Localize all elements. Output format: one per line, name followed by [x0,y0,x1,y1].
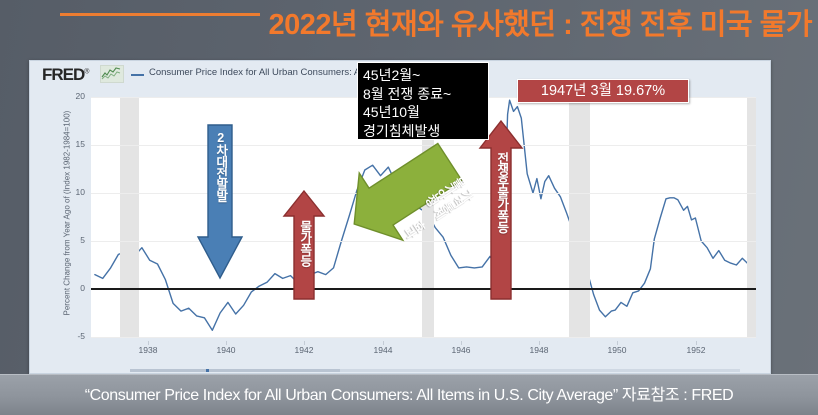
annotation-red-up-arrow-2[interactable]: 전쟁후물가폭등 [479,120,523,300]
black-callout-line-2: 8월 전쟁 종료~ [363,85,488,104]
zero-baseline [91,288,756,290]
sparkline-icon [100,65,124,83]
fred-logo-registered: ® [84,68,88,75]
blue-arrow-label: 2차대전발발 [213,131,227,202]
red-arrow-1-label: 물가폭등 [297,220,311,266]
black-callout-line-1: 45년2월~ [363,66,488,85]
x-tick-1942: 1942 [274,345,334,355]
x-tick-1946: 1946 [431,345,491,355]
gridline-minus5 [91,337,756,338]
scrollbar-handle-dot[interactable] [206,369,209,372]
caption-band: “Consumer Price Index for All Urban Cons… [0,374,818,415]
legend-label: Consumer Price Index for All Urban Consu… [149,67,360,78]
legend-color-swatch [131,74,144,76]
recession-band-3 [569,97,590,337]
fred-logo: FRED® [42,65,88,85]
recession-band-1 [120,97,139,337]
y-tick-15: 15 [30,139,85,149]
x-axis: 1938 1940 1942 1944 1946 1948 1950 1952 [91,341,756,355]
y-tick-20: 20 [30,91,85,101]
scrollbar-thumb[interactable] [130,369,340,372]
x-tick-1952: 1952 [666,345,726,355]
annotation-green-diagonal-arrow[interactable]: 가격통제 효과 물가안정 [336,134,468,252]
chart-scrollbar[interactable] [30,367,770,372]
black-callout-line-3: 45년10월 [363,103,488,122]
y-tick-minus5: -5 [30,331,85,341]
fred-logo-text: FRED [42,65,84,84]
x-tick-1950: 1950 [587,345,647,355]
annotation-blue-down-arrow[interactable]: 2차대전발발 [197,125,243,280]
red-arrow-2-label: 전쟁후물가폭등 [494,152,508,233]
black-callout-line-4: 경기침체발생 [363,122,488,141]
x-tick-1944: 1944 [353,345,413,355]
y-tick-0: 0 [30,283,85,293]
slide-canvas: 2022년 현재와 유사했던 : 전쟁 전후 미국 물가 FRED® Consu… [0,0,818,415]
page-title: 2022년 현재와 유사했던 : 전쟁 전후 미국 물가 [140,4,812,46]
x-tick-1940: 1940 [196,345,256,355]
x-tick-1938: 1938 [118,345,178,355]
annotation-red-up-arrow-1[interactable]: 물가폭등 [283,190,325,300]
x-tick-1948: 1948 [509,345,569,355]
source-caption: “Consumer Price Index for All Urban Cons… [0,381,818,405]
y-tick-10: 10 [30,187,85,197]
y-tick-5: 5 [30,235,85,245]
peak-value-badge[interactable]: 1947년 3월 19.67% [517,79,689,103]
recession-band-4 [747,97,756,337]
annotation-black-callout[interactable]: 45년2월~ 8월 전쟁 종료~ 45년10월 경기침체발생 [357,62,489,140]
